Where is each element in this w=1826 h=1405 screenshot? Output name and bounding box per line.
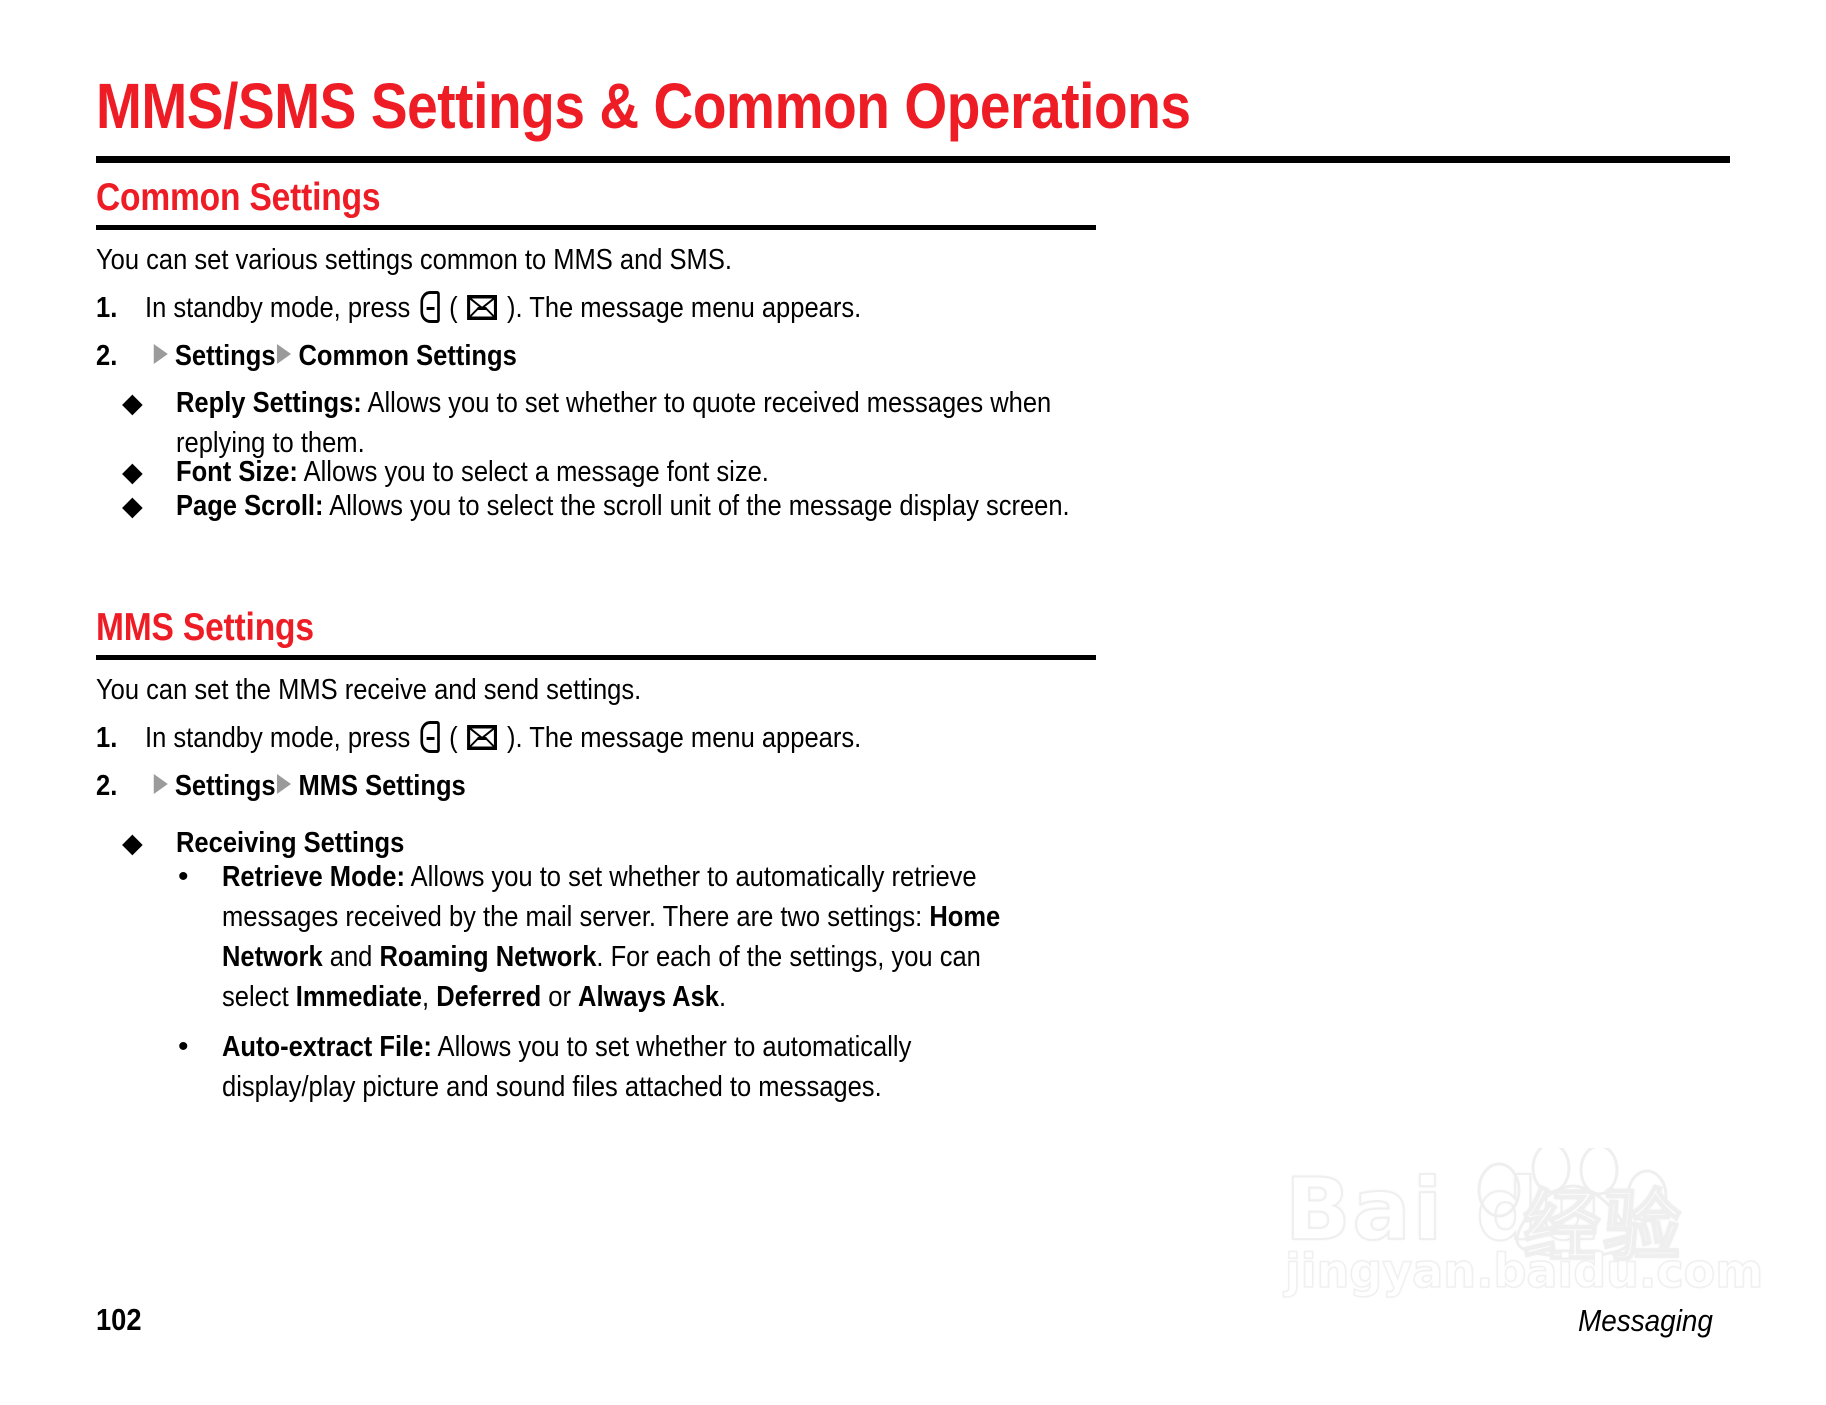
retrieve-mode-option-always-ask: Always Ask bbox=[578, 981, 719, 1013]
paw-icon bbox=[1465, 1148, 1695, 1258]
step-2-path-mms: SettingsMMS Settings bbox=[152, 766, 466, 806]
section-heading-common-settings: Common Settings bbox=[96, 178, 380, 217]
soft-key-icon bbox=[420, 721, 439, 753]
triangle-right-icon bbox=[277, 774, 291, 794]
step-1-before-key-mms: In standby mode, press bbox=[145, 722, 410, 754]
retrieve-mode-mid1: and bbox=[330, 941, 373, 973]
diamond-bullet-icon: ◆ bbox=[122, 486, 143, 526]
menu-item-settings-mms: Settings bbox=[175, 770, 276, 802]
step-number-2-mms: 2. bbox=[96, 766, 117, 806]
step-1-before-key: In standby mode, press bbox=[145, 292, 410, 324]
step-1-text-common: In standby mode, press ( ). The message … bbox=[145, 288, 861, 328]
dot-bullet-icon: • bbox=[178, 1027, 189, 1067]
step-number-1-common: 1. bbox=[96, 288, 117, 328]
footer-section-label: Messaging bbox=[1578, 1303, 1713, 1339]
watermark-logo-text: Bai du bbox=[1285, 1160, 1603, 1260]
retrieve-mode-end: . bbox=[719, 981, 726, 1013]
subbullet-auto-extract-file: Auto-extract File: Allows you to set whe… bbox=[222, 1027, 1014, 1107]
bullet-reply-settings: Reply Settings: Allows you to set whethe… bbox=[176, 383, 1056, 463]
section-heading-mms-settings: MMS Settings bbox=[96, 608, 314, 647]
triangle-right-icon bbox=[277, 344, 291, 364]
step-1-after-env: ). The message menu appears. bbox=[507, 292, 861, 324]
retrieve-mode-mid3: , bbox=[422, 981, 429, 1013]
title-rule bbox=[96, 156, 1730, 163]
step-number-2-common: 2. bbox=[96, 336, 117, 376]
common-settings-intro: You can set various settings common to M… bbox=[96, 240, 732, 280]
triangle-right-icon bbox=[154, 774, 168, 794]
soft-key-icon bbox=[420, 291, 439, 323]
step-1-paren-open-mms: ( bbox=[449, 722, 458, 754]
bullet-label-page-scroll: Page Scroll: bbox=[176, 490, 324, 522]
step-2-path-common: SettingsCommon Settings bbox=[152, 336, 517, 376]
page-number: 102 bbox=[96, 1302, 142, 1338]
step-1-text-mms: In standby mode, press ( ). The message … bbox=[145, 718, 861, 758]
menu-item-settings: Settings bbox=[175, 340, 276, 372]
bullet-label-font-size: Font Size: bbox=[176, 456, 298, 488]
retrieve-mode-option-roaming-network: Roaming Network bbox=[379, 941, 596, 973]
mms-settings-intro: You can set the MMS receive and send set… bbox=[96, 670, 641, 710]
document-page: Bai du 经验 jingyan.baidu.com MMS/SMS Sett… bbox=[0, 0, 1826, 1405]
watermark-logo-cn: 经验 bbox=[1523, 1164, 1683, 1276]
triangle-right-icon bbox=[154, 344, 168, 364]
watermark-url: jingyan.baidu.com bbox=[1285, 1244, 1763, 1298]
subbullet-label-retrieve-mode: Retrieve Mode: bbox=[222, 861, 405, 893]
bullet-label-reply-settings: Reply Settings: bbox=[176, 387, 362, 419]
step-number-1-mms: 1. bbox=[96, 718, 117, 758]
envelope-icon bbox=[466, 724, 498, 751]
retrieve-mode-option-deferred: Deferred bbox=[436, 981, 541, 1013]
diamond-bullet-icon: ◆ bbox=[122, 383, 143, 423]
envelope-icon bbox=[466, 294, 498, 321]
step-1-paren-open: ( bbox=[449, 292, 458, 324]
subbullet-retrieve-mode: Retrieve Mode: Allows you to set whether… bbox=[222, 857, 1014, 1017]
diamond-bullet-icon: ◆ bbox=[122, 823, 143, 863]
subbullet-label-auto-extract-file: Auto-extract File: bbox=[222, 1031, 432, 1063]
bullet-text-page-scroll: Allows you to select the scroll unit of … bbox=[329, 490, 1069, 522]
bullet-text-font-size: Allows you to select a message font size… bbox=[304, 456, 769, 488]
menu-item-mms-settings: MMS Settings bbox=[298, 770, 465, 802]
page-title: MMS/SMS Settings & Common Operations bbox=[96, 74, 1191, 138]
section-rule-mms-settings bbox=[96, 655, 1096, 660]
bullet-page-scroll: Page Scroll: Allows you to select the sc… bbox=[176, 486, 1070, 526]
dot-bullet-icon: • bbox=[178, 857, 189, 897]
retrieve-mode-option-immediate: Immediate bbox=[296, 981, 422, 1013]
menu-item-common-settings: Common Settings bbox=[298, 340, 516, 372]
retrieve-mode-mid4: or bbox=[548, 981, 571, 1013]
section-rule-common-settings bbox=[96, 225, 1096, 230]
step-1-after-env-mms: ). The message menu appears. bbox=[507, 722, 861, 754]
